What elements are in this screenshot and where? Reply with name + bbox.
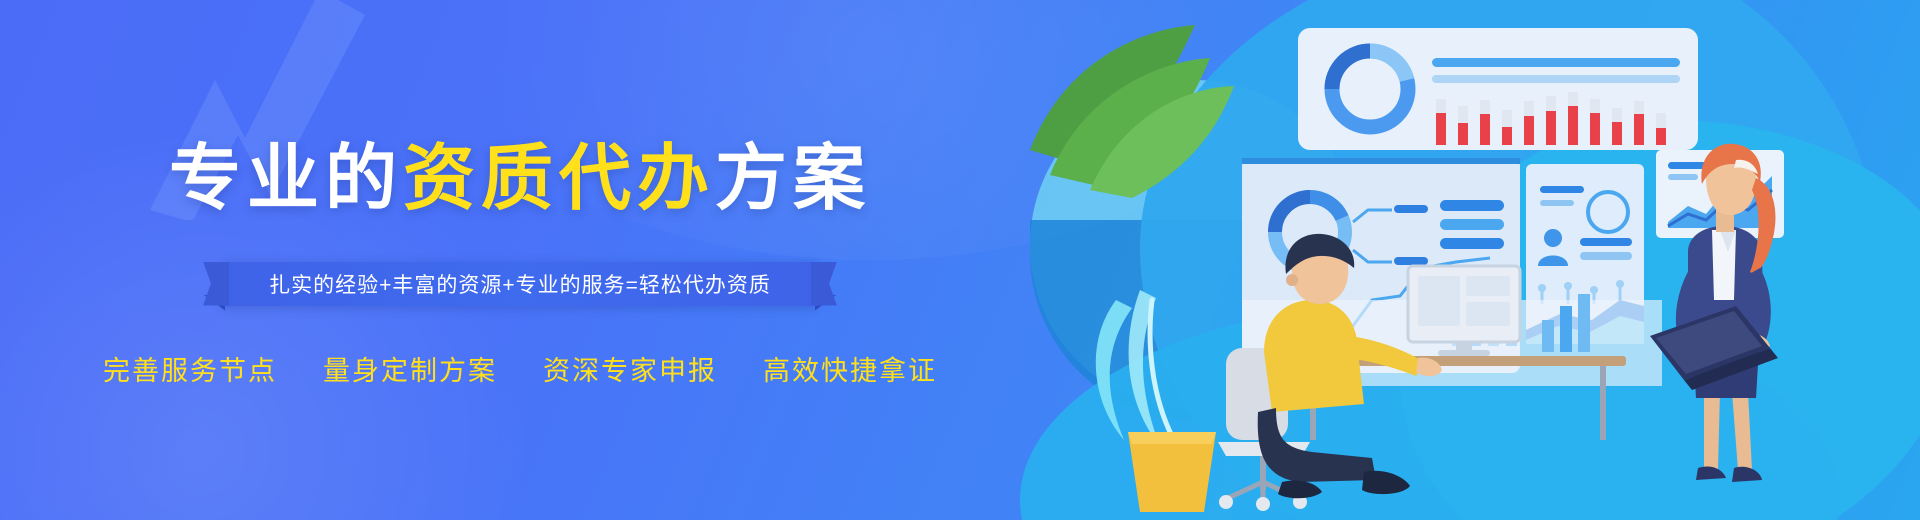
headline-part-2: 方案 — [715, 139, 871, 219]
ribbon-text: 扎实的经验+丰富的资源+专业的服务=轻松代办资质 — [269, 269, 771, 299]
leaf-green-icon — [1030, 25, 1234, 198]
monitor — [1408, 266, 1520, 356]
headline: 专业的资质代办方案 — [169, 143, 871, 215]
donut-chart — [1332, 51, 1408, 127]
trousers — [1258, 408, 1376, 482]
business-analytics-illustration — [1020, 0, 1920, 520]
ribbon-body: 扎实的经验+丰富的资源+专业的服务=轻松代办资质 — [223, 262, 817, 306]
shoe — [1732, 467, 1762, 482]
plant-pot-icon — [1128, 432, 1216, 512]
banner-copy: 专业的资质代办方案 扎实的经验+丰富的资源+专业的服务=轻松代办资质 完善服务节… — [0, 0, 1040, 520]
plant-stalk-icon — [1096, 290, 1176, 446]
progress-bar — [1432, 58, 1680, 67]
shoe — [1278, 480, 1322, 498]
headline-accent: 资质代办 — [403, 139, 715, 219]
feature-list: 完善服务节点 量身定制方案 资深专家申报 高效快捷拿证 — [103, 349, 937, 388]
feature-item-2: 量身定制方案 — [323, 349, 497, 388]
promo-banner: 专业的资质代办方案 扎实的经验+丰富的资源+专业的服务=轻松代办资质 完善服务节… — [0, 0, 1920, 520]
list-bars — [1440, 200, 1504, 249]
shoe — [1696, 466, 1726, 480]
shoe — [1362, 471, 1410, 494]
top-dashboard-card — [1298, 28, 1698, 150]
feature-item-1: 完善服务节点 — [103, 349, 277, 388]
progress-bar — [1432, 75, 1680, 83]
feature-item-3: 资深专家申报 — [543, 349, 717, 388]
feature-item-4: 高效快捷拿证 — [763, 349, 937, 388]
headline-part-1: 专业的 — [169, 139, 403, 219]
subtitle-ribbon: 扎实的经验+丰富的资源+专业的服务=轻松代办资质 — [223, 259, 817, 309]
